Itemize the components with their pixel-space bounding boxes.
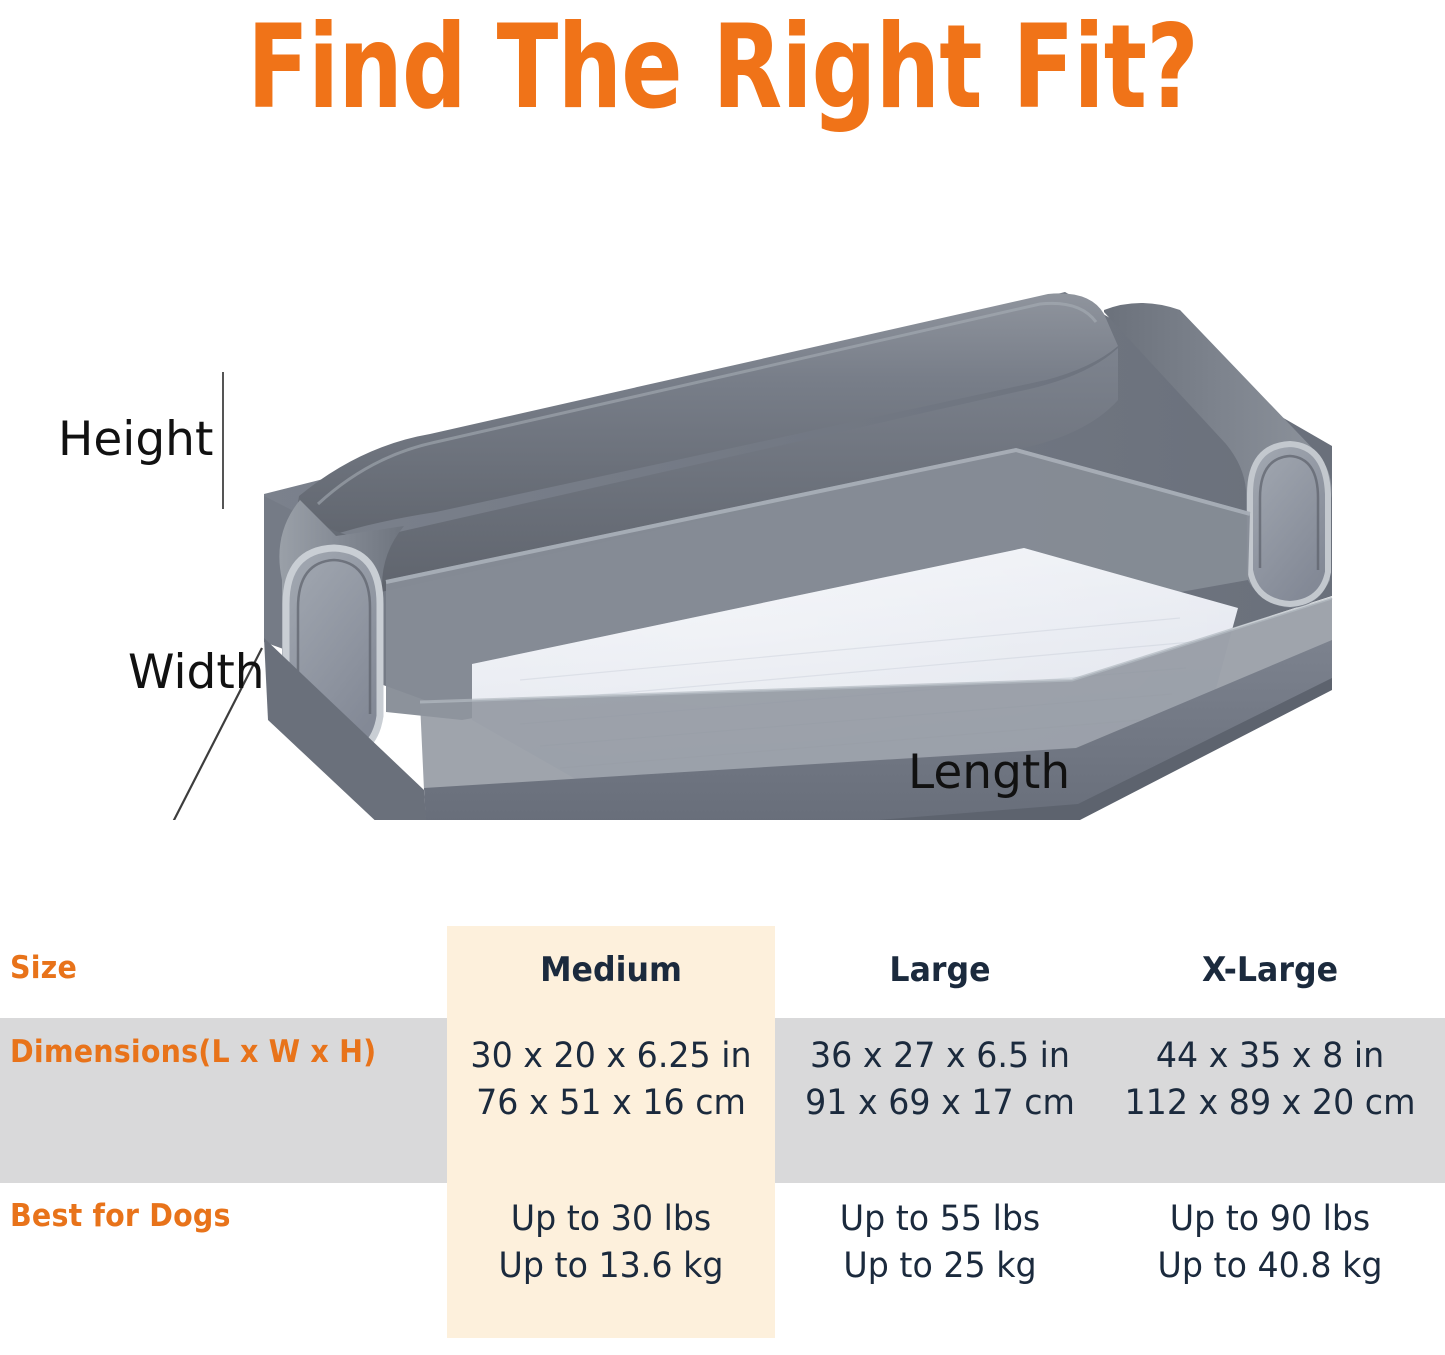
dimensions-large-in: 36 x 27 x 6.5 in	[798, 1033, 1083, 1080]
dimensions-xlarge-in: 44 x 35 x 8 in	[1113, 1033, 1427, 1080]
weight-large-lbs: Up to 55 lbs	[798, 1196, 1083, 1243]
weight-medium: Up to 30 lbs Up to 13.6 kg	[455, 1196, 767, 1290]
height-label: Height	[58, 412, 213, 467]
dog-bed-illustration	[0, 250, 1445, 820]
weight-large: Up to 55 lbs Up to 25 kg	[798, 1196, 1083, 1290]
row-label-dimensions: Dimensions(L x W x H)	[10, 1034, 376, 1070]
dimensions-large-cm: 91 x 69 x 17 cm	[798, 1080, 1083, 1127]
weight-xlarge: Up to 90 lbs Up to 40.8 kg	[1113, 1196, 1427, 1290]
row-label-size: Size	[10, 950, 77, 986]
weight-medium-kg: Up to 13.6 kg	[455, 1243, 767, 1290]
dimensions-large: 36 x 27 x 6.5 in 91 x 69 x 17 cm	[798, 1033, 1083, 1127]
weight-xlarge-kg: Up to 40.8 kg	[1113, 1243, 1427, 1290]
dimensions-medium-cm: 76 x 51 x 16 cm	[455, 1080, 767, 1127]
weight-xlarge-lbs: Up to 90 lbs	[1113, 1196, 1427, 1243]
dimensions-xlarge-cm: 112 x 89 x 20 cm	[1113, 1080, 1427, 1127]
dimensions-medium-in: 30 x 20 x 6.25 in	[455, 1033, 767, 1080]
size-table: Size Dimensions(L x W x H) Best for Dogs…	[0, 908, 1445, 1355]
width-label: Width	[128, 645, 265, 700]
page-title: Find The Right Fit?	[159, 2, 1286, 134]
length-label: Length	[908, 745, 1070, 800]
column-header-xlarge: X-Large	[1117, 950, 1424, 990]
dimensions-medium: 30 x 20 x 6.25 in 76 x 51 x 16 cm	[455, 1033, 767, 1127]
column-header-large: Large	[801, 950, 1080, 990]
dimensions-xlarge: 44 x 35 x 8 in 112 x 89 x 20 cm	[1113, 1033, 1427, 1127]
size-guide-page: Find The Right Fit?	[0, 0, 1445, 1355]
column-header-medium: Medium	[458, 950, 763, 990]
height-leader-line	[222, 372, 224, 509]
row-label-best-for-dogs: Best for Dogs	[10, 1198, 231, 1234]
weight-medium-lbs: Up to 30 lbs	[455, 1196, 767, 1243]
weight-large-kg: Up to 25 kg	[798, 1243, 1083, 1290]
